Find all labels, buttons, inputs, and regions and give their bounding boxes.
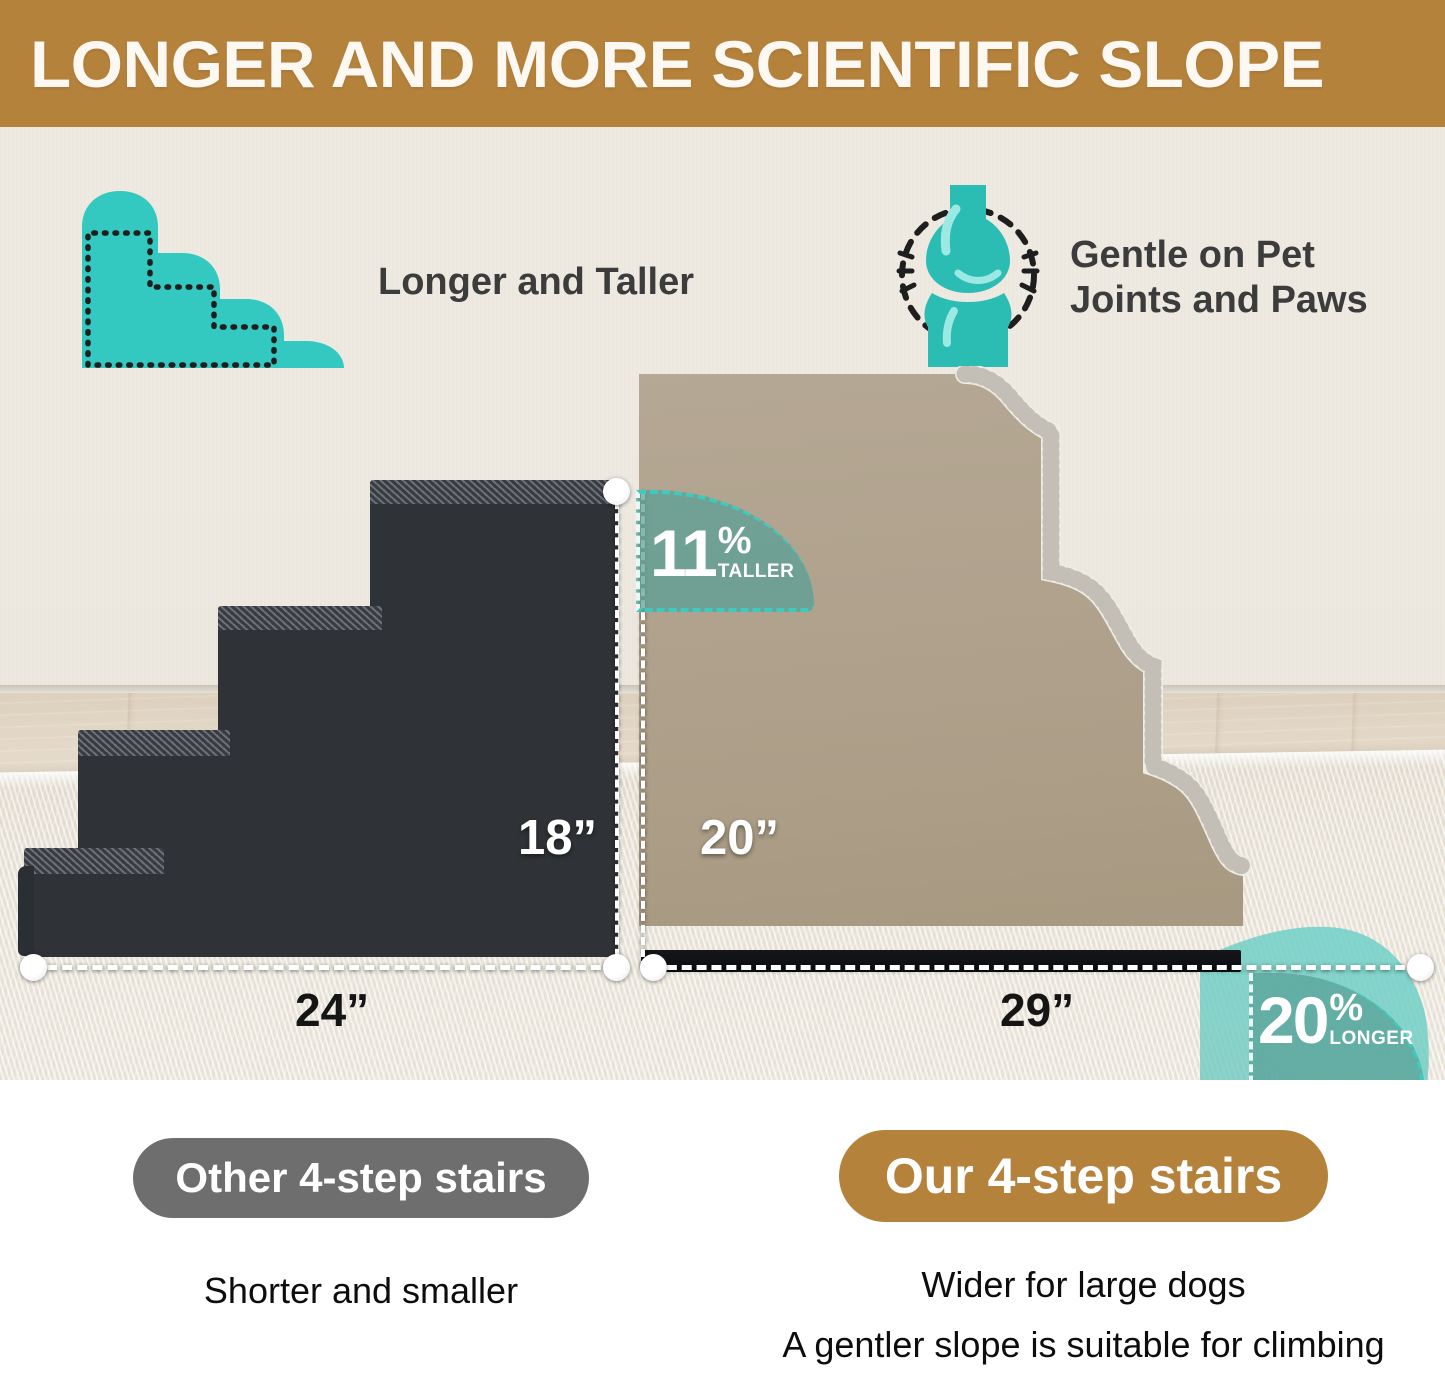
header-banner: LONGER AND MORE SCIENTIFIC SLOPE xyxy=(0,0,1445,127)
height-line-other xyxy=(615,489,619,969)
longer-badge-sign: % xyxy=(1329,989,1363,1027)
length-dot-other-left xyxy=(20,954,47,981)
taller-badge-sign: % xyxy=(718,522,752,560)
height-dot-other-top xyxy=(603,478,630,505)
length-dot-our-left xyxy=(640,954,667,981)
taller-badge-sub: TALLER xyxy=(718,561,795,583)
longer-badge-value: 20 xyxy=(1258,989,1327,1052)
caption-column-other: Other 4-step stairs Shorter and smaller xyxy=(0,1080,722,1312)
caption-our-line-1: Wider for large dogs xyxy=(722,1264,1445,1306)
product-comparison-scene: Longer and Taller xyxy=(0,127,1445,1080)
height-label-other: 18” xyxy=(518,810,597,866)
caption-section: Other 4-step stairs Shorter and smaller … xyxy=(0,1080,1445,1399)
length-dot-our-right xyxy=(1407,954,1434,981)
longer-badge-text: 20 % LONGER xyxy=(1258,989,1414,1052)
taller-badge-text: 11 % TALLER xyxy=(650,522,794,585)
length-dot-other-right xyxy=(603,954,630,981)
taller-badge-value: 11 xyxy=(650,522,716,585)
pill-other-stairs: Other 4-step stairs xyxy=(133,1138,588,1218)
caption-other-line-1: Shorter and smaller xyxy=(0,1270,722,1312)
measurement-overlay: 18” 20” 24” 29” 11 % TALLER xyxy=(0,127,1445,1080)
length-line-other xyxy=(32,965,616,970)
length-line-our xyxy=(652,965,1420,970)
length-label-our: 29” xyxy=(1000,983,1074,1037)
length-label-other: 24” xyxy=(295,983,369,1037)
caption-column-our: Our 4-step stairs Wider for large dogs A… xyxy=(722,1080,1445,1366)
height-label-our: 20” xyxy=(700,810,779,866)
infographic-page: LONGER AND MORE SCIENTIFIC SLOPE Longer … xyxy=(0,0,1445,1399)
longer-badge-sub: LONGER xyxy=(1329,1028,1413,1050)
page-title: LONGER AND MORE SCIENTIFIC SLOPE xyxy=(30,26,1324,102)
caption-our-line-2: A gentler slope is suitable for climbing xyxy=(722,1324,1445,1366)
pill-our-stairs: Our 4-step stairs xyxy=(839,1130,1328,1222)
